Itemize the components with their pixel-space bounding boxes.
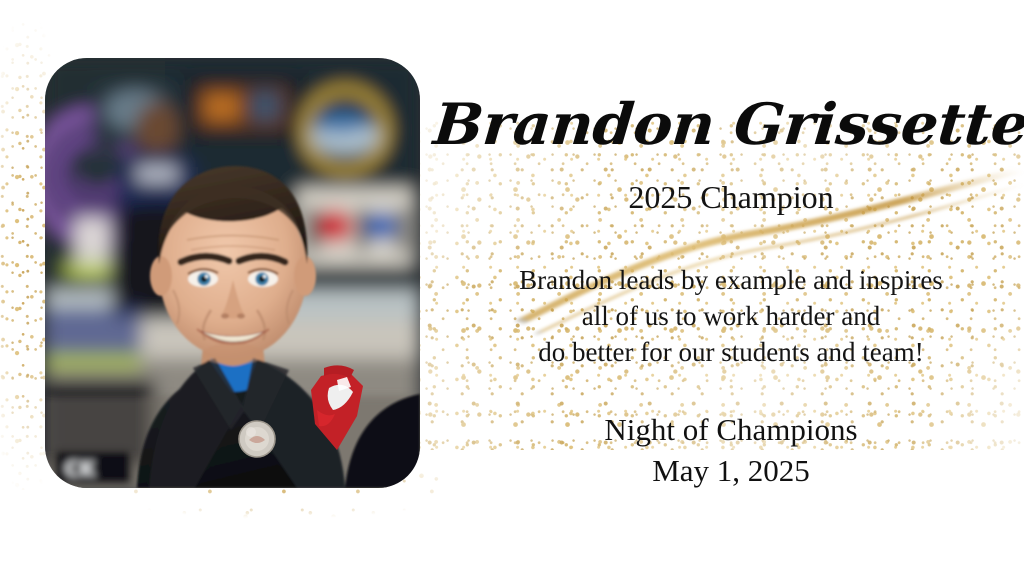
quote-line: Brandon leads by example and inspires (438, 262, 1024, 298)
honoree-name: Brandon Grissette (427, 96, 1024, 153)
event-name: Night of Champions (438, 410, 1024, 451)
text-panel: Brandon Grissette 2025 Champion Brandon … (438, 0, 1024, 576)
quote-line: all of us to work harder and (438, 298, 1024, 334)
champion-title: 2025 Champion (438, 181, 1024, 215)
event-details: Night of Champions May 1, 2025 (438, 410, 1024, 492)
tribute-quote: Brandon leads by example and inspires al… (438, 262, 1024, 371)
svg-text:CK: CK (65, 457, 97, 481)
honoree-photo: CK (45, 58, 420, 488)
event-date: May 1, 2025 (438, 451, 1024, 492)
quote-line: do better for our students and team! (438, 334, 1024, 370)
medal-pin (239, 421, 275, 457)
award-poster: CK (0, 0, 1024, 576)
